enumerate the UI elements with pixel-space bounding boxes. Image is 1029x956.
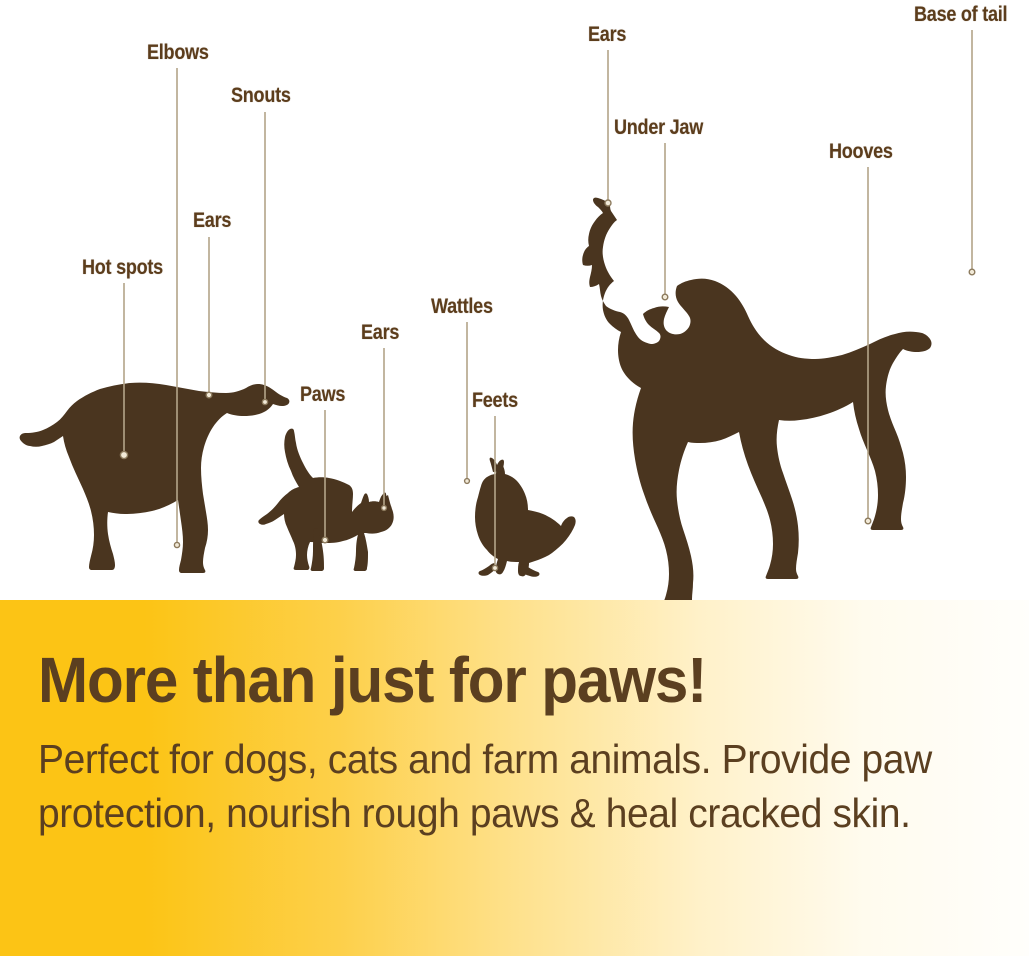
label-dog-snouts: Snouts	[231, 85, 291, 106]
label-horse-base-of-tail: Base of tail	[914, 4, 1007, 25]
marker-horse-base-of-tail	[969, 269, 975, 275]
animal-diagram: Hot spots Elbows Ears Snouts Paws Ears W…	[0, 0, 1029, 600]
chicken-silhouette	[475, 458, 576, 577]
label-horse-ears: Ears	[588, 24, 626, 45]
marker-cat-paws	[322, 537, 328, 543]
animal-silhouettes-svg	[0, 0, 1029, 600]
label-horse-under-jaw: Under Jaw	[614, 117, 703, 138]
label-cat-paws: Paws	[300, 384, 345, 405]
marker-dog-elbows	[174, 542, 179, 547]
label-dog-elbows: Elbows	[147, 42, 209, 63]
cat-silhouette	[258, 429, 393, 571]
label-chicken-feets: Feets	[472, 390, 518, 411]
marker-horse-under-jaw	[662, 294, 668, 300]
label-dog-ears: Ears	[193, 210, 231, 231]
marker-dog-snouts	[262, 399, 267, 404]
label-chicken-wattles: Wattles	[431, 296, 493, 317]
marker-horse-hooves	[865, 518, 871, 524]
label-cat-ears: Ears	[361, 322, 399, 343]
banner-content: More than just for paws! Perfect for dog…	[38, 648, 989, 840]
banner-headline: More than just for paws!	[38, 648, 932, 713]
product-infographic: Hot spots Elbows Ears Snouts Paws Ears W…	[0, 0, 1029, 956]
marker-chicken-feets	[492, 565, 497, 570]
leader-lines	[124, 30, 972, 568]
label-dog-hot-spots: Hot spots	[82, 257, 163, 278]
marker-cat-ears	[382, 506, 387, 511]
marker-horse-ears	[605, 200, 611, 206]
promo-banner: More than just for paws! Perfect for dog…	[0, 600, 1029, 956]
marker-dog-ears	[206, 392, 212, 398]
banner-body-text: Perfect for dogs, cats and farm animals.…	[38, 733, 941, 840]
label-horse-hooves: Hooves	[829, 141, 893, 162]
marker-chicken-wattles	[465, 479, 470, 484]
dog-silhouette	[20, 383, 290, 573]
marker-dog-hot-spots	[120, 451, 127, 458]
horse-silhouette	[582, 198, 931, 600]
